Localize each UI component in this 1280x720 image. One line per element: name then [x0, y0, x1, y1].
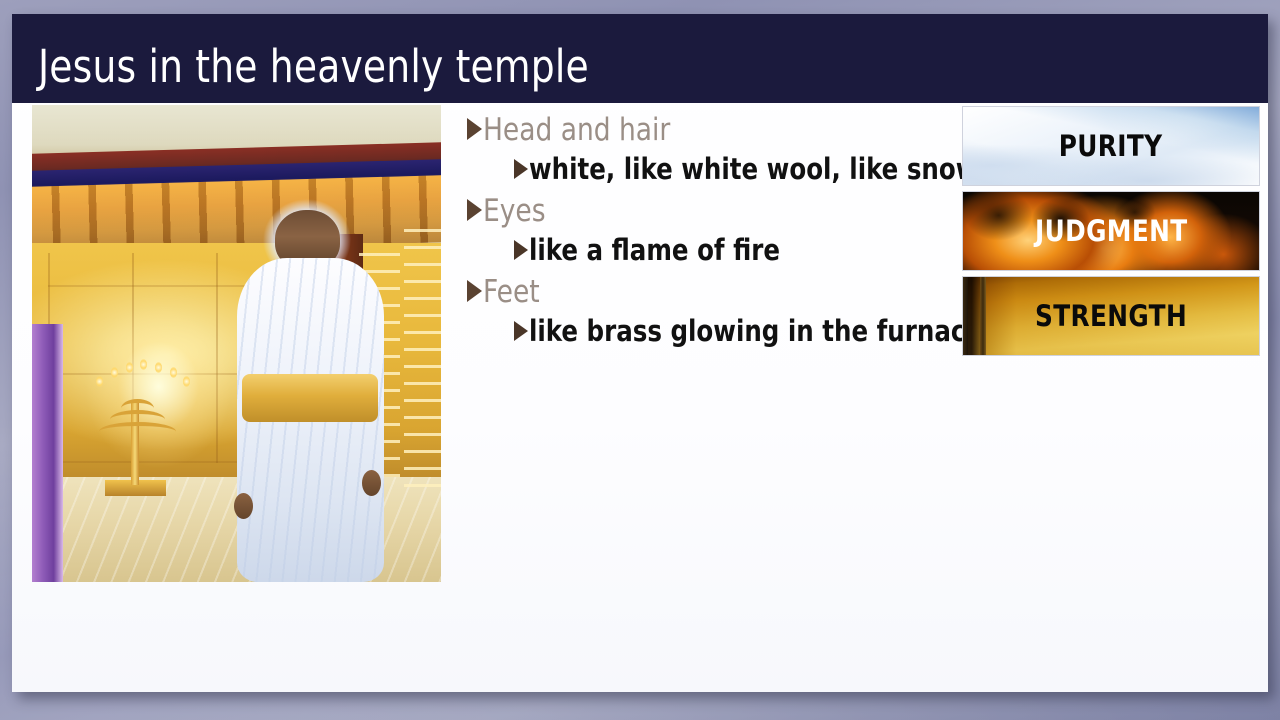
menorah-arm-middle — [110, 410, 165, 421]
page-title: Jesus in the heavenly temple — [38, 44, 589, 89]
menorah-flame-6 — [170, 367, 177, 378]
figure-right-hand — [362, 470, 381, 496]
concept-card-purity: PURITY — [962, 106, 1260, 186]
bullet-text: Feet — [483, 274, 540, 312]
menorah-arm-inner — [121, 399, 154, 410]
illustration-purple-curtain — [32, 324, 63, 582]
concept-card-label: STRENGTH — [1035, 299, 1187, 333]
concept-card-list: PURITY JUDGMENT STRENGTH — [962, 106, 1262, 361]
illustration-purple-pillar-2 — [404, 229, 441, 487]
menorah-flame-1 — [96, 376, 103, 387]
bullet-text: Eyes — [483, 193, 546, 231]
figure-gold-sash — [242, 374, 377, 422]
menorah-flame-3 — [126, 362, 133, 373]
triangle-bullet-icon — [467, 118, 482, 140]
illustration-jesus-figure — [237, 210, 384, 582]
concept-card-strength: STRENGTH — [962, 276, 1260, 356]
menorah-arm-outer — [99, 422, 176, 433]
bullet-text: white, like white wool, like snow — [529, 152, 978, 187]
bullet-level2-brass-glowing: like brass glowing in the furnace — [514, 314, 937, 349]
bullet-text: like a flame of fire — [529, 233, 780, 268]
concept-card-label: PURITY — [1059, 129, 1163, 163]
content-bullet-list: Head and hair white, like white wool, li… — [467, 106, 937, 350]
bullet-level1-head-and-hair: Head and hair — [467, 112, 937, 150]
slide-viewer: Jesus in the heavenly temple — [0, 0, 1280, 720]
bullet-level1-eyes: Eyes — [467, 193, 937, 231]
triangle-bullet-icon — [514, 321, 528, 341]
bullet-level2-white-like-wool: white, like white wool, like snow — [514, 152, 937, 187]
menorah-flame-4 — [140, 359, 147, 370]
menorah-flame-7 — [183, 376, 190, 387]
triangle-bullet-icon — [467, 280, 482, 302]
menorah-flame-2 — [111, 367, 118, 378]
concept-card-judgment: JUDGMENT — [962, 191, 1260, 271]
bullet-text: Head and hair — [483, 112, 670, 150]
temple-illustration-image — [32, 105, 441, 582]
bullet-level2-flame-of-fire: like a flame of fire — [514, 233, 937, 268]
triangle-bullet-icon — [514, 240, 528, 260]
bullet-text: like brass glowing in the furnace — [529, 314, 982, 349]
triangle-bullet-icon — [514, 159, 528, 179]
concept-card-label: JUDGMENT — [1035, 214, 1188, 248]
illustration-menorah — [93, 353, 191, 496]
figure-left-hand — [234, 493, 253, 519]
menorah-flame-5 — [155, 362, 162, 373]
presentation-slide: Jesus in the heavenly temple — [12, 14, 1268, 692]
slide-title-bar: Jesus in the heavenly temple — [12, 14, 1268, 103]
triangle-bullet-icon — [467, 199, 482, 221]
bullet-level1-feet: Feet — [467, 274, 937, 312]
